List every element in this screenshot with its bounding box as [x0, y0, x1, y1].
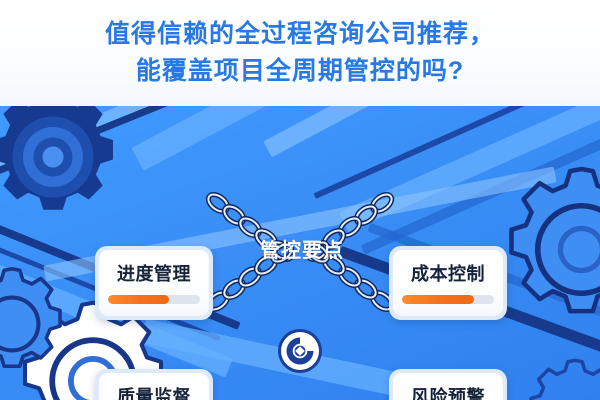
progress-fill — [402, 295, 474, 304]
main-blue-panel: 管控要点 进度管理 成本控制 — [0, 106, 600, 400]
progress-track — [108, 295, 200, 304]
metric-card-label: 质量监督 — [117, 383, 191, 400]
target-hub-icon — [277, 328, 323, 374]
metric-card[interactable]: 风险预警 — [389, 369, 507, 400]
metric-card[interactable]: 质量监督 — [95, 369, 213, 400]
progress-track — [402, 295, 494, 304]
metric-card[interactable]: 成本控制 — [389, 246, 507, 320]
metric-card-inner: 进度管理 — [99, 250, 209, 316]
metric-card-inner: 质量监督 — [99, 373, 209, 400]
header-banner: 值得信赖的全过程咨询公司推荐， 能覆盖项目全周期管控的吗? — [0, 0, 600, 106]
metric-card-label: 成本控制 — [411, 260, 485, 286]
metric-card-inner: 成本控制 — [393, 250, 503, 316]
metric-card[interactable]: 进度管理 — [95, 246, 213, 320]
infographic-canvas: 值得信赖的全过程咨询公司推荐， 能覆盖项目全周期管控的吗? — [0, 0, 600, 400]
metric-card-label: 风险预警 — [411, 383, 485, 400]
metric-card-label: 进度管理 — [117, 260, 191, 286]
page-title-line-1: 值得信赖的全过程咨询公司推荐， — [105, 16, 495, 53]
progress-fill — [108, 295, 169, 304]
metric-card-inner: 风险预警 — [393, 373, 503, 400]
page-title-line-2: 能覆盖项目全周期管控的吗? — [136, 53, 464, 90]
center-heading: 管控要点 — [246, 234, 358, 263]
